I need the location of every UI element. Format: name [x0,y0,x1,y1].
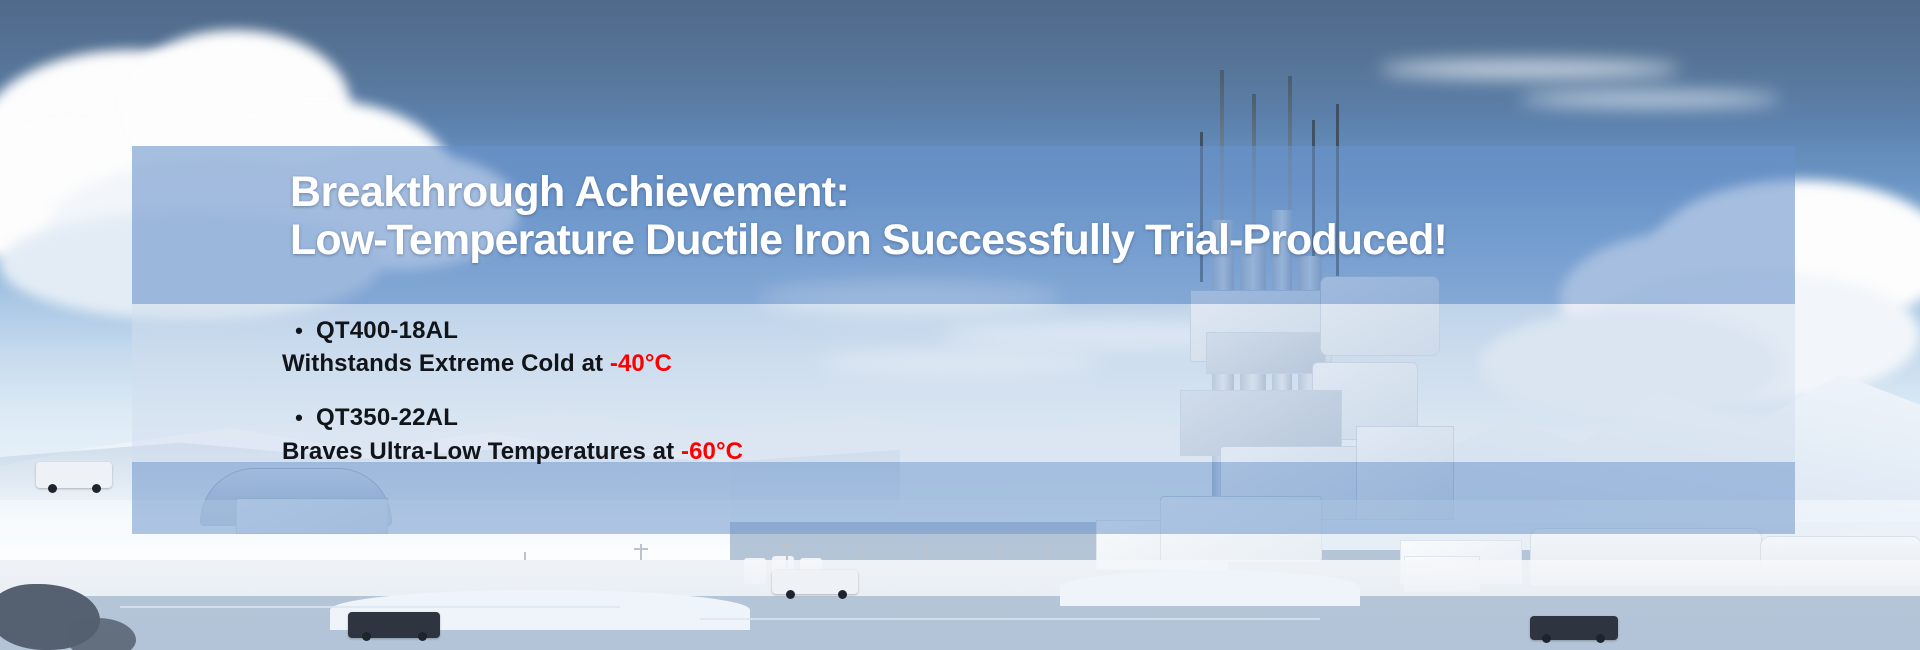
car-wheel [1596,634,1605,643]
snow-track [120,606,620,608]
snow-truck-left [36,462,112,488]
temperature-value: -40°C [610,350,672,377]
bullet-description: Withstands Extreme Cold at -40°C [282,349,743,379]
headline-line-1: Breakthrough Achievement: [290,168,1447,216]
bullet-row: • QT400-18AL [282,316,743,346]
suv-wheel [838,590,847,599]
bullet-marker-icon: • [282,320,316,342]
temperature-value: -60°C [681,438,743,465]
car-wheel [1542,634,1551,643]
bullet-description-text: Withstands Extreme Cold at [282,350,610,377]
material-grade: QT400-18AL [316,316,458,346]
car-wheel [362,632,371,641]
truck-wheel [48,484,57,493]
cloud-streak-2 [1520,92,1780,106]
truck-wheel [92,484,101,493]
headline-line-2: Low-Temperature Ductile Iron Successfull… [290,216,1447,264]
snow-track [700,618,1320,620]
bullet-list: • QT400-18AL Withstands Extreme Cold at … [282,316,743,467]
text-overlay-panel: Breakthrough Achievement: Low-Temperatur… [132,146,1795,534]
bullet-group-2: • QT350-22AL Braves Ultra-Low Temperatur… [282,403,743,466]
suv-wheel [786,590,795,599]
bullet-description-text: Braves Ultra-Low Temperatures at [282,438,681,465]
material-grade: QT350-22AL [316,403,458,433]
snow-bank [1060,570,1360,606]
promo-banner: Breakthrough Achievement: Low-Temperatur… [0,0,1920,650]
bullet-row: • QT350-22AL [282,403,743,433]
bullet-marker-icon: • [282,407,316,429]
bullet-description: Braves Ultra-Low Temperatures at -60°C [282,437,743,467]
headline: Breakthrough Achievement: Low-Temperatur… [290,168,1447,264]
overlay-band-footer [132,462,1795,534]
bullet-group-1: • QT400-18AL Withstands Extreme Cold at … [282,316,743,379]
car-wheel [418,632,427,641]
